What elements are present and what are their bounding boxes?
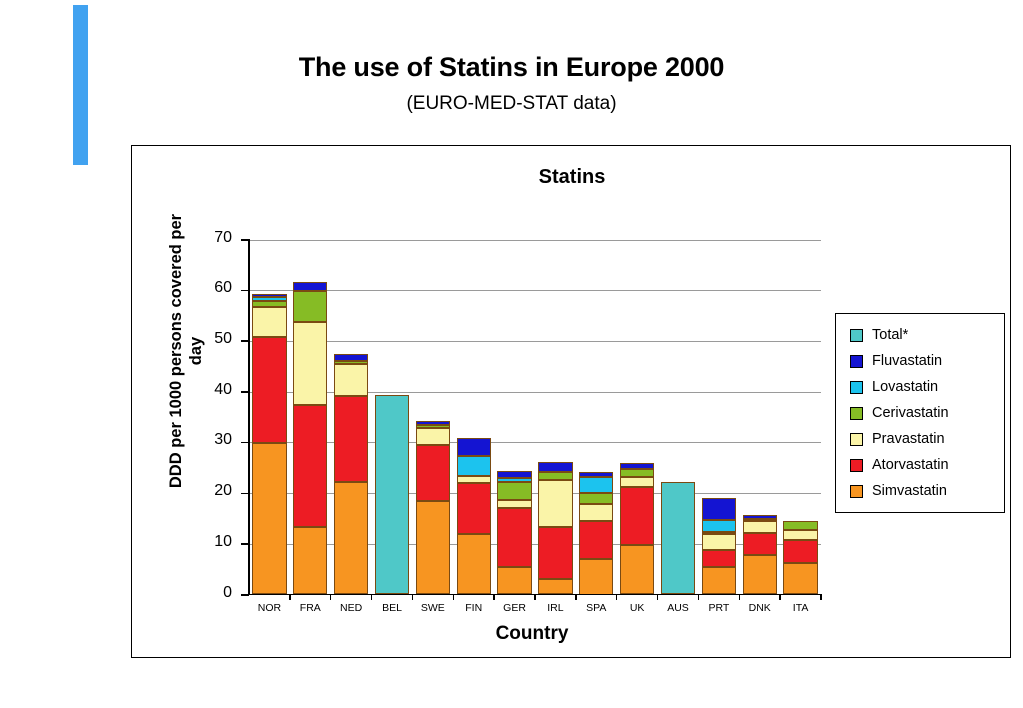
bar-segment-fluvastatin [702,498,736,520]
bar-fra[interactable] [293,240,327,595]
x-axis-tick [534,594,536,600]
bar-ger[interactable] [497,240,531,595]
x-axis-tick [820,594,822,600]
bar-segment-pravastatin [702,534,736,550]
bar-segment-pravastatin [497,500,531,508]
x-axis-tick [616,594,618,600]
bar-segment-pravastatin [252,307,286,337]
bar-segment-pravastatin [620,477,654,487]
bar-segment-simvastatin [783,563,817,594]
bar-segment-cerivastatin [334,361,368,364]
bar-segment-pravastatin [743,521,777,532]
legend-item-fluvastatin[interactable]: Fluvastatin [850,348,1004,374]
bar-segment-fluvastatin [620,463,654,469]
bar-segment-pravastatin [457,476,491,483]
legend-swatch-icon [850,485,863,498]
bar-segment-atorvastatin [620,487,654,545]
slide-title: The use of Statins in Europe 2000 [0,52,1023,83]
bar-uk[interactable] [620,240,654,595]
y-axis-tick-label: 20 [192,482,232,500]
legend-label: Atorvastatin [872,457,949,473]
bar-segment-cerivastatin [252,301,286,307]
bar-segment-cerivastatin [783,521,817,530]
x-axis-tick [493,594,495,600]
x-axis-tick [657,594,659,600]
bar-segment-simvastatin [743,555,777,595]
bar-segment-atorvastatin [416,445,450,501]
bar-segment-atorvastatin [334,396,368,482]
bar-segment-cerivastatin [579,493,613,504]
legend-label: Cerivastatin [872,405,949,421]
y-axis-tick-label: 10 [192,533,232,551]
bar-segment-atorvastatin [293,405,327,527]
bar-segment-atorvastatin [702,550,736,567]
bar-segment-cerivastatin [293,291,327,322]
x-axis-tick [289,594,291,600]
bar-segment-lovastatin [702,520,736,532]
legend-label: Fluvastatin [872,353,942,369]
bar-swe[interactable] [416,240,450,595]
y-axis-line [248,239,250,594]
bar-segment-simvastatin [497,567,531,594]
bar-segment-pravastatin [293,322,327,405]
chart-container: Statins DDD per 1000 persons covered per… [131,145,1011,658]
bar-segment-simvastatin [579,559,613,595]
x-axis-tick [412,594,414,600]
chart-legend: Total*FluvastatinLovastatinCerivastatinP… [835,313,1005,513]
bar-segment-pravastatin [783,530,817,540]
bar-segment-pravastatin [579,504,613,521]
x-axis-tick [739,594,741,600]
legend-item-total[interactable]: Total* [850,322,1004,348]
bar-segment-atorvastatin [743,533,777,555]
bar-segment-lovastatin [497,478,531,482]
bar-segment-fluvastatin [538,462,572,472]
bar-segment-atorvastatin [538,527,572,579]
bar-segment-total [375,395,409,595]
x-axis-tick [453,594,455,600]
slide-accent-bar [73,5,88,165]
bar-segment-atorvastatin [497,508,531,567]
legend-item-simvastatin[interactable]: Simvastatin [850,478,1004,504]
bar-segment-fluvastatin [334,354,368,361]
bar-segment-simvastatin [538,579,572,594]
legend-swatch-icon [850,407,863,420]
bar-segment-pravastatin [538,480,572,527]
bar-segment-fluvastatin [579,472,613,477]
bar-segment-lovastatin [252,297,286,301]
legend-item-atorvastatin[interactable]: Atorvastatin [850,452,1004,478]
legend-swatch-icon [850,355,863,368]
bar-segment-fluvastatin [416,421,450,425]
y-axis-tick-label: 70 [192,229,232,247]
legend-item-pravastatin[interactable]: Pravastatin [850,426,1004,452]
bar-prt[interactable] [702,240,736,595]
bar-segment-simvastatin [334,482,368,594]
bar-segment-lovastatin [743,519,777,522]
x-axis-tick [371,594,373,600]
bar-segment-fluvastatin [252,294,286,298]
bar-irl[interactable] [538,240,572,595]
y-axis-tick-label: 40 [192,381,232,399]
bar-segment-simvastatin [620,545,654,594]
legend-swatch-icon [850,459,863,472]
bar-segment-lovastatin [579,477,613,493]
y-axis-tick-label: 30 [192,431,232,449]
bar-segment-cerivastatin [538,472,572,480]
legend-label: Pravastatin [872,431,945,447]
bar-segment-simvastatin [252,443,286,594]
bar-segment-fluvastatin [457,438,491,455]
bar-segment-pravastatin [334,364,368,396]
bar-segment-atorvastatin [783,540,817,563]
bar-segment-fluvastatin [743,515,777,519]
x-axis-tick [698,594,700,600]
legend-swatch-icon [850,381,863,394]
bar-segment-fluvastatin [497,471,531,478]
bar-segment-cerivastatin [702,532,736,534]
legend-swatch-icon [850,433,863,446]
bar-aus[interactable] [661,240,695,595]
y-axis-tick-label: 0 [192,584,232,602]
bar-dnk[interactable] [743,240,777,595]
bar-spa[interactable] [579,240,613,595]
slide-subtitle: (EURO-MED-STAT data) [0,93,1023,115]
bar-segment-pravastatin [416,428,450,445]
x-axis-title: Country [302,623,762,645]
legend-label: Lovastatin [872,379,938,395]
x-axis-tick [575,594,577,600]
legend-item-lovastatin[interactable]: Lovastatin [850,374,1004,400]
legend-item-cerivastatin[interactable]: Cerivastatin [850,400,1004,426]
bar-segment-simvastatin [416,501,450,595]
x-axis-tick-label: ITA [775,602,827,614]
bar-segment-fluvastatin [293,282,327,291]
bar-segment-atorvastatin [252,337,286,443]
bar-segment-simvastatin [293,527,327,595]
bar-segment-cerivastatin [416,425,450,429]
legend-label: Total* [872,327,908,343]
bar-segment-atorvastatin [457,483,491,534]
bar-ita[interactable] [783,240,817,595]
x-axis-tick [779,594,781,600]
bar-nor[interactable] [252,240,286,595]
bar-segment-atorvastatin [579,521,613,559]
bar-segment-lovastatin [457,456,491,476]
bar-ned[interactable] [334,240,368,595]
bar-segment-cerivastatin [620,469,654,477]
bar-segment-simvastatin [457,534,491,595]
y-axis-tick-label: 60 [192,279,232,297]
bar-segment-cerivastatin [497,482,531,500]
bar-segment-total [661,482,695,594]
x-axis-tick [330,594,332,600]
bar-segment-simvastatin [702,567,736,594]
bar-bel[interactable] [375,240,409,595]
legend-swatch-icon [850,329,863,342]
y-axis-tick-label: 50 [192,330,232,348]
bar-fin[interactable] [457,240,491,595]
legend-label: Simvastatin [872,483,947,499]
